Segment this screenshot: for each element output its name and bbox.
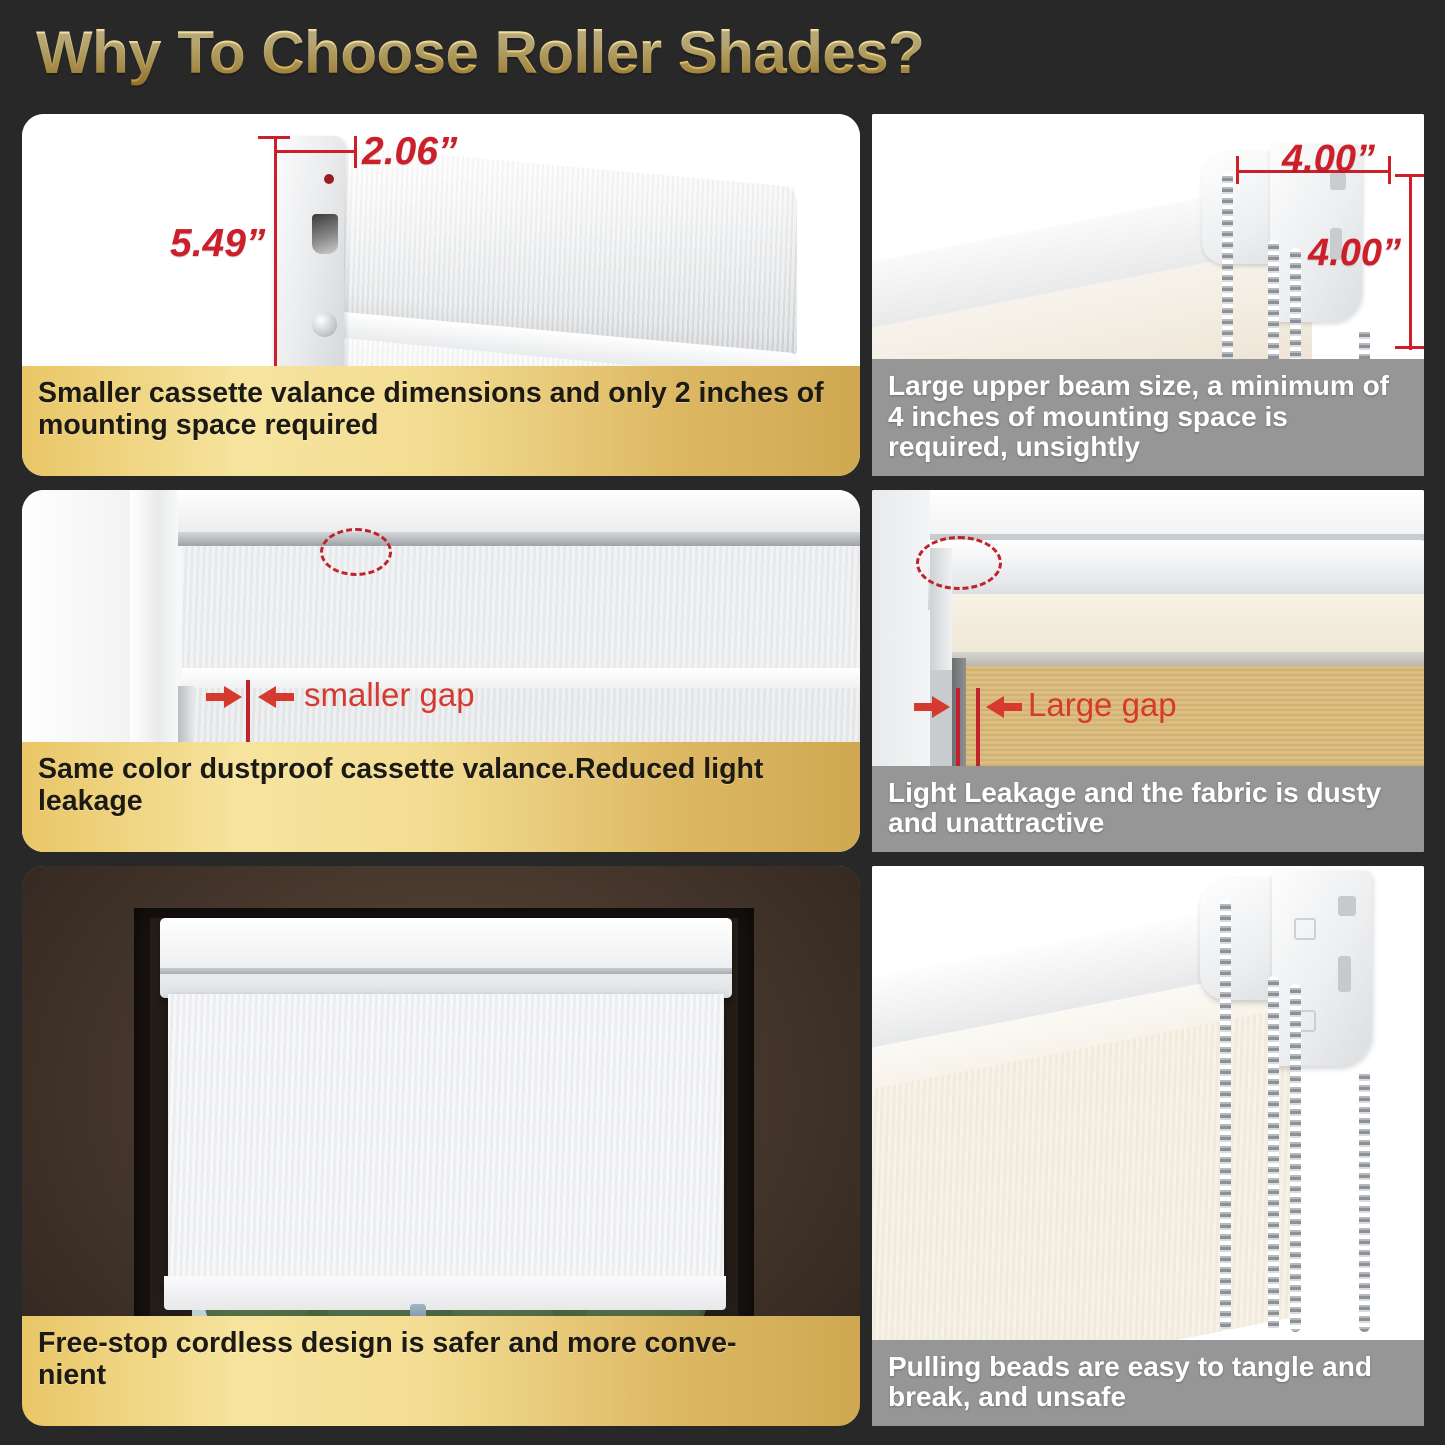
cassette-end-cap — [272, 136, 344, 396]
beam-width-dimension-label: 4.00” — [1282, 138, 1375, 181]
infographic-page: Why To Choose Roller Shades? 2.06” — [0, 0, 1445, 1445]
panel-cassette-dimensions: 2.06” 5.49” Smaller cassette valance dim… — [22, 114, 860, 476]
panel-caption: Large upper beam size, a minimum of 4 in… — [872, 359, 1424, 476]
cassette-headrail — [160, 918, 732, 998]
caption-line-1: Free-stop cordless design is safer and m… — [38, 1327, 736, 1359]
panel-caption: Light Leakage and the fabric is dusty an… — [872, 766, 1424, 852]
panel-caption: Free-stop cordless design is safer and m… — [22, 1316, 860, 1426]
beam-height-dimension-label: 4.00” — [1308, 232, 1401, 275]
panel-caption: Pulling beads are easy to tangle and bre… — [872, 1340, 1424, 1426]
bead-chain — [1220, 900, 1231, 1330]
bead-chain — [1268, 976, 1279, 1332]
roller-shade-fabric — [168, 994, 724, 1294]
bead-chain — [1359, 1070, 1370, 1332]
gap-label: Large gap — [1028, 686, 1177, 724]
panel-cordless-design: Free-stop cordless design is safer and m… — [22, 866, 860, 1426]
width-dimension-label: 2.06” — [362, 130, 457, 174]
gap-label: smaller gap — [304, 676, 475, 714]
arrow-left-icon — [986, 696, 1022, 718]
panel-smaller-gap: smaller gap Same color dustproof cassett… — [22, 490, 860, 852]
panel-caption: Smaller cassette valance dimensions and … — [22, 366, 860, 476]
panel-caption: Same color dustproof cassette valance.Re… — [22, 742, 860, 852]
bead-chain — [1290, 984, 1301, 1332]
caption-line-2: nient — [38, 1359, 106, 1391]
highlight-circle — [916, 536, 1002, 590]
panel-large-beam: 4.00” 4.00” Large upper beam size, a min… — [872, 114, 1424, 476]
arrow-right-icon — [914, 696, 950, 718]
panel-light-leakage: Large gap Light Leakage and the fabric i… — [872, 490, 1424, 852]
page-title: Why To Choose Roller Shades? — [36, 18, 924, 87]
highlight-circle — [320, 528, 392, 576]
panel-pulling-beads: Pulling beads are easy to tangle and bre… — [872, 866, 1424, 1426]
panel-grid: 2.06” 5.49” Smaller cassette valance dim… — [0, 108, 1445, 1433]
arrow-left-icon — [258, 686, 294, 708]
mounting-bracket — [1272, 870, 1372, 1066]
height-dimension-label: 5.49” — [170, 222, 265, 266]
arrow-right-icon — [206, 686, 242, 708]
